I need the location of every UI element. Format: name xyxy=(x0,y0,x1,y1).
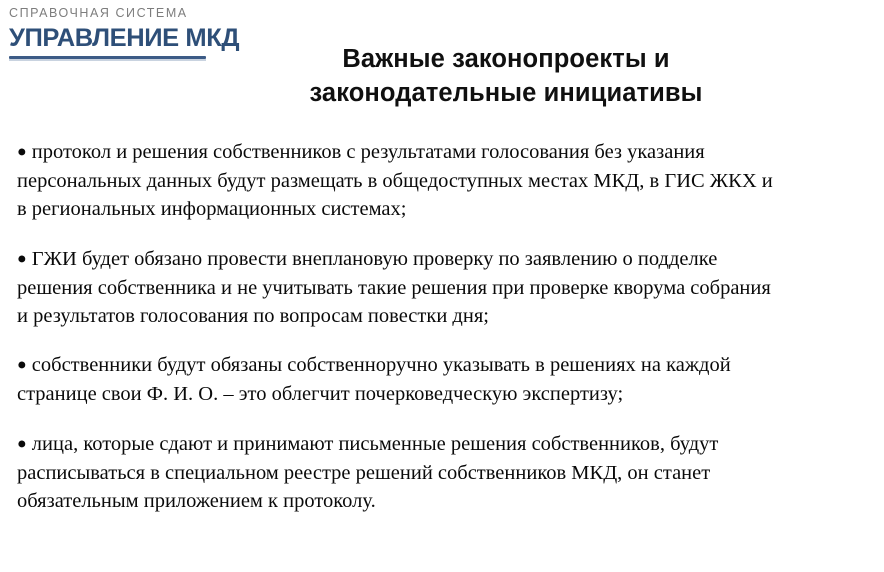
bullet-marker-icon: ● xyxy=(17,250,27,267)
bullet-item: ● лица, которые сдают и принимают письме… xyxy=(17,430,867,516)
bullet-line: ● собственники будут обязаны собственнор… xyxy=(17,351,867,380)
bullet-marker-icon: ● xyxy=(17,144,27,161)
brand-logo: СПРАВОЧНАЯ СИСТЕМА УПРАВЛЕНИЕ МКД xyxy=(9,6,214,61)
bullet-list: ● протокол и решения собственников с рез… xyxy=(17,138,867,515)
logo-tagline: СПРАВОЧНАЯ СИСТЕМА xyxy=(9,6,214,21)
page-title-line-2: законодательные инициативы xyxy=(236,76,776,110)
bullet-text: протокол и решения собственников с резул… xyxy=(32,141,705,163)
bullet-text: ГЖИ будет обязано провести внеплановую п… xyxy=(32,248,718,270)
bullet-line: решения собственника и не учитывать таки… xyxy=(17,274,867,302)
bullet-item: ● протокол и решения собственников с рез… xyxy=(17,138,867,224)
bullet-line: странице свои Ф. И. О. – это облегчит по… xyxy=(17,380,867,408)
bullet-line: ● лица, которые сдают и принимают письме… xyxy=(17,430,867,459)
bullet-item: ● ГЖИ будет обязано провести внеплановую… xyxy=(17,245,867,331)
bullet-line: ● ГЖИ будет обязано провести внеплановую… xyxy=(17,245,867,274)
logo-title: УПРАВЛЕНИЕ МКД xyxy=(9,25,218,52)
bullet-marker-icon: ● xyxy=(17,357,27,374)
page-title-line-1: Важные законопроекты и xyxy=(236,42,776,76)
bullet-line: ● протокол и решения собственников с рез… xyxy=(17,138,867,167)
bullet-line: персональных данных будут размещать в об… xyxy=(17,167,867,195)
bullet-line: и результатов голосования по вопросам по… xyxy=(17,302,867,330)
page-title: Важные законопроекты и законодательные и… xyxy=(236,42,776,110)
bullet-line: расписываться в специальном реестре реше… xyxy=(17,459,867,487)
bullet-line: в региональных информационных системах; xyxy=(17,195,867,223)
bullet-marker-icon: ● xyxy=(17,435,27,452)
bullet-text: собственники будут обязаны собственноруч… xyxy=(32,354,731,376)
logo-divider-shadow xyxy=(9,59,206,61)
bullet-item: ● собственники будут обязаны собственнор… xyxy=(17,351,867,408)
bullet-line: обязательным приложением к протоколу. xyxy=(17,487,867,515)
slide-root: СПРАВОЧНАЯ СИСТЕМА УПРАВЛЕНИЕ МКД Важные… xyxy=(0,0,884,572)
bullet-text: лица, которые сдают и принимают письменн… xyxy=(32,433,719,455)
